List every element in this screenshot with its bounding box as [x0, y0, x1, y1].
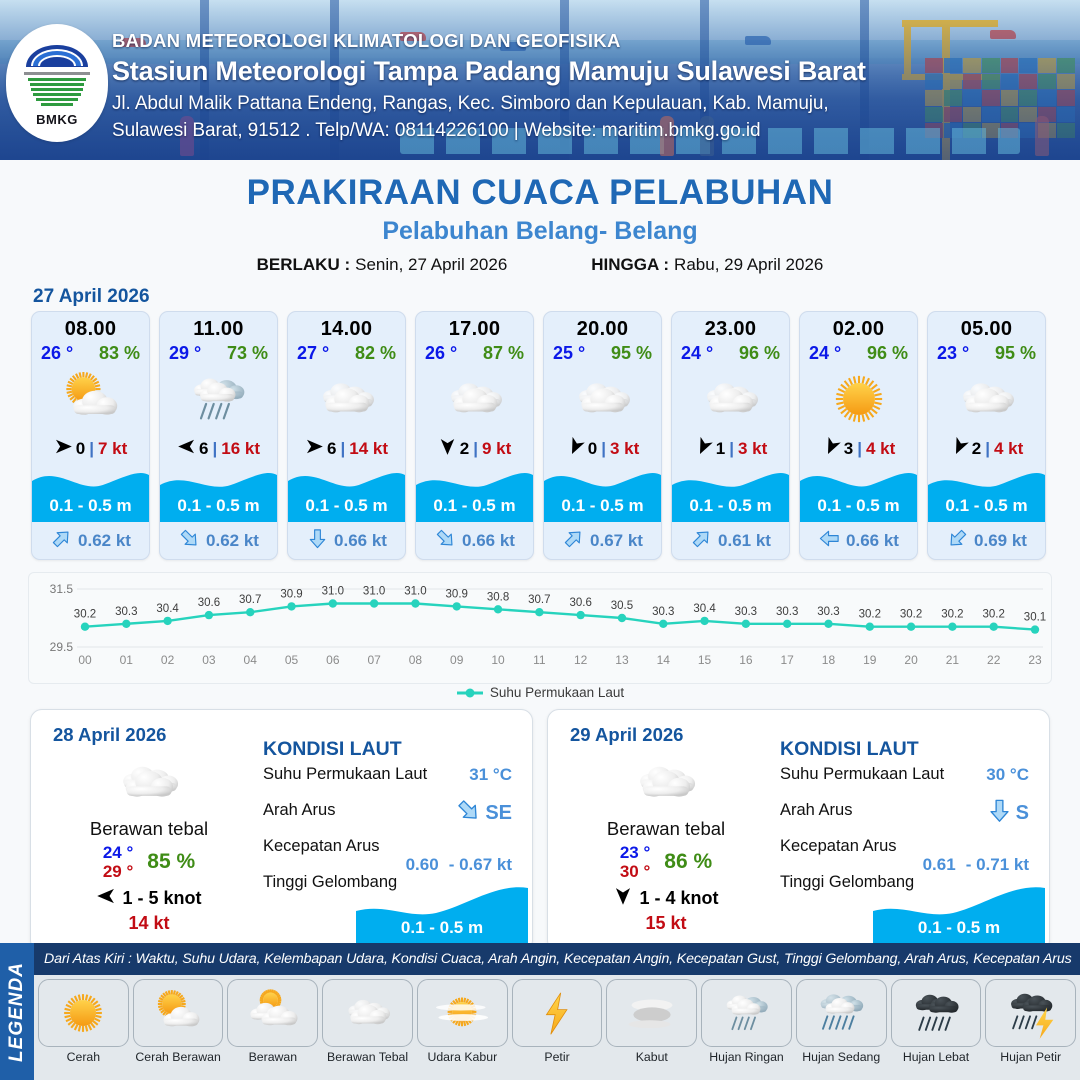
legend-note-bar: Dari Atas Kiri : Waktu, Suhu Udara, Kele…	[34, 943, 1080, 975]
svg-text:30.2: 30.2	[859, 609, 881, 621]
current-speed-row: Kecepatan Arus 0.61 - 0.71 kt	[780, 837, 1035, 873]
svg-text:02: 02	[161, 653, 175, 667]
card-temp-hum: 23 ° 95 %	[928, 341, 1045, 364]
legend-item-label: Petir	[512, 1050, 603, 1064]
cloud-thick-icon	[560, 754, 772, 812]
daily-panel-row: 28 April 2026 Berawan tebal 24	[0, 700, 1080, 952]
card-current-row: 0.69 kt	[928, 527, 1045, 555]
card-wind-direction: 2	[460, 439, 469, 459]
card-temperature: 26 °	[425, 343, 457, 364]
valid-from-value: Senin, 27 April 2026	[355, 255, 507, 274]
legend-item: Cerah	[38, 979, 129, 1064]
card-current-speed: 0.66 kt	[462, 531, 515, 551]
wind-direction-arrow-icon	[438, 437, 457, 461]
legend-item-label: Udara Kabur	[417, 1050, 508, 1064]
card-humidity: 83 %	[99, 343, 140, 364]
svg-text:30.5: 30.5	[611, 600, 633, 612]
card-wave-band: 0.1 - 0.5 m	[800, 463, 917, 522]
legend-note: Dari Atas Kiri : Waktu, Suhu Udara, Kele…	[34, 951, 1072, 967]
card-humidity: 87 %	[483, 343, 524, 364]
legend-item: Hujan Sedang	[796, 979, 887, 1064]
card-wave-band: 0.1 - 0.5 m	[416, 463, 533, 522]
daily-temp-max: 30 °	[620, 862, 650, 881]
svg-text:30.3: 30.3	[115, 606, 137, 618]
cloud-sun-icon	[227, 979, 318, 1047]
svg-text:30.6: 30.6	[198, 597, 220, 609]
svg-text:30.3: 30.3	[776, 606, 798, 618]
forecast-card-row: 08.00 26 ° 83 % 0 | 7 kt	[0, 311, 1080, 560]
card-temp-hum: 25 ° 95 %	[544, 341, 661, 364]
header-address-2: Sulawesi Barat, 91512 . Telp/WA: 0811422…	[112, 118, 866, 143]
svg-text:13: 13	[615, 653, 629, 667]
svg-text:30.3: 30.3	[652, 606, 674, 618]
card-wind-direction: 0	[76, 439, 85, 459]
card-wind-direction: 3	[844, 439, 853, 459]
card-wave-height: 0.1 - 0.5 m	[288, 496, 405, 516]
card-wind-row: 0 | 3 kt	[544, 436, 661, 462]
legend-item: Cerah Berawan	[133, 979, 224, 1064]
card-temperature: 24 °	[809, 343, 841, 364]
card-current-speed: 0.66 kt	[846, 531, 899, 551]
card-current-row: 0.67 kt	[544, 527, 661, 555]
daily-wind-row: 1 - 4 knot	[560, 886, 772, 911]
svg-text:22: 22	[987, 653, 1001, 667]
svg-text:19: 19	[863, 653, 877, 667]
card-wind-direction: 6	[327, 439, 336, 459]
wind-direction-arrow-icon	[177, 437, 196, 461]
daily-sea-block: KONDISI LAUT Suhu Permukaan Laut 31 °C A…	[263, 738, 518, 909]
sst-label: Suhu Permukaan Laut	[780, 765, 944, 783]
valid-until: HINGGA :Rabu, 29 April 2026	[591, 255, 823, 275]
wind-direction-arrow-icon	[613, 886, 633, 911]
sea-conditions-heading: KONDISI LAUT	[780, 738, 1035, 761]
card-wave-height: 0.1 - 0.5 m	[416, 496, 533, 516]
wind-direction-arrow-icon	[96, 886, 116, 911]
daily-humidity: 85 %	[147, 850, 195, 874]
forecast-card[interactable]: 23.00 24 ° 96 % 1	[671, 311, 790, 560]
legend-item-label: Kabut	[606, 1050, 697, 1064]
legend-item-label: Cerah Berawan	[133, 1050, 224, 1064]
svg-text:31.0: 31.0	[363, 586, 385, 598]
sst-chart: 31.529.530.20030.30130.40230.60330.70430…	[28, 572, 1052, 684]
legend-item: Petir	[512, 979, 603, 1064]
svg-text:30.3: 30.3	[735, 606, 757, 618]
current-direction-value: SE	[455, 797, 512, 830]
card-temperature: 27 °	[297, 343, 329, 364]
svg-text:30.9: 30.9	[280, 588, 302, 600]
forecast-card[interactable]: 20.00 25 ° 95 % 0	[543, 311, 662, 560]
daily-wind-range: 1 - 5 knot	[122, 888, 201, 909]
card-current-speed: 0.61 kt	[718, 531, 771, 551]
svg-text:01: 01	[120, 653, 134, 667]
daily-temps: 24 ° 29 ° 85 %	[43, 843, 255, 881]
card-gust-speed: 16 kt	[221, 439, 260, 459]
valid-until-label: HINGGA :	[591, 255, 669, 274]
chart-legend-marker	[456, 687, 484, 699]
haze-icon	[417, 979, 508, 1047]
current-speed-min: 0.61	[923, 855, 956, 875]
valid-from: BERLAKU :Senin, 27 April 2026	[257, 255, 508, 275]
current-direction-arrow-icon	[434, 527, 457, 555]
cloud-icon	[672, 366, 789, 432]
forecast-date-label: 27 April 2026	[33, 286, 1080, 308]
daily-wave-value: 0.1 - 0.5 m	[356, 918, 528, 938]
divider: |	[473, 439, 478, 459]
current-direction-arrow-icon	[986, 797, 1013, 830]
chart-legend: Suhu Permukaan Laut	[0, 685, 1080, 700]
card-wind-direction: 0	[588, 439, 597, 459]
header-station: Stasiun Meteorologi Tampa Padang Mamuju …	[112, 55, 866, 89]
forecast-card[interactable]: 17.00 26 ° 87 % 2	[415, 311, 534, 560]
daily-gust: 15 kt	[560, 913, 772, 934]
card-temp-hum: 27 ° 82 %	[288, 341, 405, 364]
card-current-speed: 0.67 kt	[590, 531, 643, 551]
card-humidity: 95 %	[995, 343, 1036, 364]
legend-item: Hujan Lebat	[891, 979, 982, 1064]
header-org: BADAN METEOROLOGI KLIMATOLOGI DAN GEOFIS…	[112, 28, 866, 54]
wind-direction-arrow-icon	[822, 437, 841, 461]
card-gust-speed: 3 kt	[610, 439, 639, 459]
legend-item: Berawan	[227, 979, 318, 1064]
card-wave-height: 0.1 - 0.5 m	[544, 496, 661, 516]
current-direction-arrow-icon	[178, 527, 201, 555]
card-wave-band: 0.1 - 0.5 m	[32, 463, 149, 522]
daily-left-block: Berawan tebal 23 ° 30 ° 86 % 1 - 4 knot …	[560, 754, 772, 934]
legend-section: LEGENDA Dari Atas Kiri : Waktu, Suhu Uda…	[0, 943, 1080, 1080]
card-wind-row: 6 | 16 kt	[160, 436, 277, 462]
cloud-thick-icon	[322, 979, 413, 1047]
current-speed-value: 0.61 - 0.71 kt	[923, 855, 1029, 875]
card-wind-row: 3 | 4 kt	[800, 436, 917, 462]
svg-text:29.5: 29.5	[50, 640, 74, 654]
card-temp-hum: 24 ° 96 %	[672, 341, 789, 364]
validity-row: BERLAKU :Senin, 27 April 2026 HINGGA :Ra…	[0, 255, 1080, 275]
header-address-1: Jl. Abdul Malik Pattana Endeng, Rangas, …	[112, 91, 866, 116]
wind-direction-arrow-icon	[694, 437, 713, 461]
daily-summary-panel[interactable]: 28 April 2026 Berawan tebal 24	[30, 709, 533, 952]
svg-text:16: 16	[739, 653, 753, 667]
card-wave-band: 0.1 - 0.5 m	[160, 463, 277, 522]
card-wind-direction: 2	[972, 439, 981, 459]
forecast-card[interactable]: 14.00 27 ° 82 % 6	[287, 311, 406, 560]
card-humidity: 96 %	[739, 343, 780, 364]
card-wind-row: 1 | 3 kt	[672, 436, 789, 462]
card-wave-band: 0.1 - 0.5 m	[672, 463, 789, 522]
card-current-row: 0.66 kt	[416, 527, 533, 555]
card-time: 02.00	[800, 312, 917, 341]
card-temp-hum: 26 ° 83 %	[32, 341, 149, 364]
card-humidity: 73 %	[227, 343, 268, 364]
bmkg-logo-text: BMKG	[18, 112, 96, 127]
fog-icon	[606, 979, 697, 1047]
legend-item-label: Berawan	[227, 1050, 318, 1064]
sun-cloud-icon	[133, 979, 224, 1047]
svg-text:30.1: 30.1	[1024, 612, 1046, 624]
daily-sea-block: KONDISI LAUT Suhu Permukaan Laut 30 °C A…	[780, 738, 1035, 909]
valid-until-value: Rabu, 29 April 2026	[674, 255, 823, 274]
svg-text:17: 17	[780, 653, 794, 667]
cloud-icon	[288, 366, 405, 432]
cloud-icon	[544, 366, 661, 432]
daily-temps: 23 ° 30 ° 86 %	[560, 843, 772, 881]
card-gust-speed: 4 kt	[866, 439, 895, 459]
card-temperature: 23 °	[937, 343, 969, 364]
card-time: 23.00	[672, 312, 789, 341]
person-figure	[1035, 116, 1049, 156]
current-speed-max: - 0.71 kt	[966, 855, 1029, 875]
daily-temp-max: 29 °	[103, 862, 133, 881]
svg-text:31.0: 31.0	[404, 586, 426, 598]
daily-condition: Berawan tebal	[43, 818, 255, 840]
divider: |	[601, 439, 606, 459]
divider: |	[89, 439, 94, 459]
forecast-card[interactable]: 08.00 26 ° 83 % 0 | 7 kt	[31, 311, 150, 560]
page-title: PRAKIRAAN CUACA PELABUHAN	[0, 173, 1080, 213]
daily-wave-graphic: 0.1 - 0.5 m	[356, 885, 528, 945]
legend-item: Kabut	[606, 979, 697, 1064]
card-humidity: 82 %	[355, 343, 396, 364]
current-speed-max: - 0.67 kt	[449, 855, 512, 875]
card-wave-band: 0.1 - 0.5 m	[288, 463, 405, 522]
current-direction-arrow-icon	[455, 797, 482, 830]
card-wave-height: 0.1 - 0.5 m	[800, 496, 917, 516]
divider: |	[212, 439, 217, 459]
sst-row: Suhu Permukaan Laut 31 °C	[263, 765, 518, 801]
daily-condition: Berawan tebal	[560, 818, 772, 840]
svg-text:30.3: 30.3	[817, 606, 839, 618]
svg-text:14: 14	[657, 653, 671, 667]
cloud-icon	[928, 366, 1045, 432]
svg-text:30.7: 30.7	[528, 594, 550, 606]
current-speed-value: 0.60 - 0.67 kt	[406, 855, 512, 875]
current-speed-label: Kecepatan Arus	[263, 837, 380, 855]
header-banner: BMKG BADAN METEOROLOGI KLIMATOLOGI DAN G…	[0, 0, 1080, 160]
bmkg-logo: BMKG	[6, 24, 108, 142]
card-temp-hum: 29 ° 73 %	[160, 341, 277, 364]
daily-left-block: Berawan tebal 24 ° 29 ° 85 % 1 - 5 knot …	[43, 754, 255, 934]
card-gust-speed: 7 kt	[98, 439, 127, 459]
wind-direction-arrow-icon	[305, 437, 324, 461]
svg-text:03: 03	[202, 653, 216, 667]
card-wave-height: 0.1 - 0.5 m	[160, 496, 277, 516]
svg-text:06: 06	[326, 653, 340, 667]
card-temp-hum: 26 ° 87 %	[416, 341, 533, 364]
svg-text:31.5: 31.5	[50, 582, 74, 596]
svg-text:05: 05	[285, 653, 299, 667]
sea-conditions-heading: KONDISI LAUT	[263, 738, 518, 761]
current-direction-row: Arah Arus S	[780, 801, 1035, 837]
legend-item: Udara Kabur	[417, 979, 508, 1064]
card-current-speed: 0.62 kt	[78, 531, 131, 551]
daily-temp-col: 24 ° 29 °	[103, 843, 133, 881]
weather-infographic: BMKG BADAN METEOROLOGI KLIMATOLOGI DAN G…	[0, 0, 1080, 1080]
card-current-speed: 0.69 kt	[974, 531, 1027, 551]
svg-text:23: 23	[1028, 653, 1042, 667]
svg-text:30.4: 30.4	[156, 603, 179, 615]
card-gust-speed: 14 kt	[349, 439, 388, 459]
svg-text:30.9: 30.9	[446, 588, 468, 600]
sun-icon	[38, 979, 129, 1047]
daily-humidity: 86 %	[664, 850, 712, 874]
rain-light-icon	[701, 979, 792, 1047]
rain-moderate-icon	[796, 979, 887, 1047]
rain-heavy-icon	[891, 979, 982, 1047]
card-wave-band: 0.1 - 0.5 m	[928, 463, 1045, 522]
card-time: 11.00	[160, 312, 277, 341]
wind-direction-arrow-icon	[54, 437, 73, 461]
card-wind-row: 2 | 9 kt	[416, 436, 533, 462]
forecast-card[interactable]: 11.00 29 ° 73 % 6	[159, 311, 278, 560]
daily-temp-min: 23 °	[620, 843, 650, 862]
legend-item-label: Hujan Sedang	[796, 1050, 887, 1064]
card-current-row: 0.62 kt	[160, 527, 277, 555]
current-direction-arrow-icon	[50, 527, 73, 555]
current-direction-arrow-icon	[690, 527, 713, 555]
card-gust-speed: 3 kt	[738, 439, 767, 459]
daily-wave-graphic: 0.1 - 0.5 m	[873, 885, 1045, 945]
valid-from-label: BERLAKU :	[257, 255, 351, 274]
card-time: 14.00	[288, 312, 405, 341]
rain-thunder-icon	[985, 979, 1076, 1047]
daily-temp-col: 23 ° 30 °	[620, 843, 650, 881]
card-time: 05.00	[928, 312, 1045, 341]
current-direction-label: Arah Arus	[263, 801, 335, 819]
sst-value: 31 °C	[469, 765, 512, 785]
svg-text:30.2: 30.2	[74, 609, 96, 621]
daily-temp-min: 24 °	[103, 843, 133, 862]
card-wave-band: 0.1 - 0.5 m	[544, 463, 661, 522]
svg-text:20: 20	[904, 653, 918, 667]
svg-text:07: 07	[367, 653, 381, 667]
sun-cloud-icon	[32, 366, 149, 432]
svg-text:10: 10	[491, 653, 505, 667]
svg-text:30.2: 30.2	[941, 609, 963, 621]
card-current-row: 0.66 kt	[288, 527, 405, 555]
card-wave-height: 0.1 - 0.5 m	[32, 496, 149, 516]
card-current-row: 0.62 kt	[32, 527, 149, 555]
svg-text:12: 12	[574, 653, 588, 667]
cloud-thick-icon	[43, 754, 255, 812]
legend-item-label: Berawan Tebal	[322, 1050, 413, 1064]
svg-text:08: 08	[409, 653, 423, 667]
divider: |	[985, 439, 990, 459]
divider: |	[729, 439, 734, 459]
bmkg-logo-mark: BMKG	[18, 41, 96, 125]
divider: |	[340, 439, 345, 459]
rain-light-icon	[160, 366, 277, 432]
legend-item-label: Hujan Petir	[985, 1050, 1076, 1064]
card-wind-direction: 6	[199, 439, 208, 459]
daily-date: 28 April 2026	[53, 724, 166, 746]
lightning-icon	[512, 979, 603, 1047]
svg-text:30.2: 30.2	[900, 609, 922, 621]
current-direction-row: Arah Arus SE	[263, 801, 518, 837]
card-current-row: 0.61 kt	[672, 527, 789, 555]
current-direction-value: S	[986, 797, 1029, 830]
daily-wind-range: 1 - 4 knot	[639, 888, 718, 909]
card-time: 08.00	[32, 312, 149, 341]
svg-text:00: 00	[78, 653, 92, 667]
svg-text:31.0: 31.0	[322, 586, 344, 598]
current-direction-arrow-icon	[306, 527, 329, 555]
card-wind-row: 0 | 7 kt	[32, 436, 149, 462]
daily-wave-value: 0.1 - 0.5 m	[873, 918, 1045, 938]
divider: |	[857, 439, 862, 459]
legend-item-row: Cerah Cerah Berawan	[38, 979, 1076, 1064]
card-temperature: 24 °	[681, 343, 713, 364]
legend-item: Berawan Tebal	[322, 979, 413, 1064]
card-temperature: 29 °	[169, 343, 201, 364]
svg-text:09: 09	[450, 653, 464, 667]
legend-sidebar-label: LEGENDA	[6, 962, 28, 1062]
svg-text:21: 21	[946, 653, 960, 667]
card-wave-height: 0.1 - 0.5 m	[928, 496, 1045, 516]
card-gust-speed: 4 kt	[994, 439, 1023, 459]
current-direction-arrow-icon	[562, 527, 585, 555]
card-time: 17.00	[416, 312, 533, 341]
forecast-card[interactable]: 02.00 24 ° 96 % 3 | 4 kt 0.1 - 0.5 m	[799, 311, 918, 560]
svg-text:30.7: 30.7	[239, 594, 261, 606]
current-speed-min: 0.60	[406, 855, 439, 875]
sst-chart-svg: 31.529.530.20030.30130.40230.60330.70430…	[29, 573, 1053, 685]
svg-text:18: 18	[822, 653, 836, 667]
svg-text:15: 15	[698, 653, 712, 667]
card-wind-row: 6 | 14 kt	[288, 436, 405, 462]
sst-row: Suhu Permukaan Laut 30 °C	[780, 765, 1035, 801]
card-humidity: 95 %	[611, 343, 652, 364]
header-text-block: BADAN METEOROLOGI KLIMATOLOGI DAN GEOFIS…	[112, 28, 866, 143]
card-temperature: 26 °	[41, 343, 73, 364]
card-wave-height: 0.1 - 0.5 m	[672, 496, 789, 516]
page-subtitle: Pelabuhan Belang- Belang	[0, 217, 1080, 246]
card-humidity: 96 %	[867, 343, 908, 364]
legend-item: Hujan Ringan	[701, 979, 792, 1064]
forecast-card[interactable]: 05.00 23 ° 95 % 2	[927, 311, 1046, 560]
svg-text:30.8: 30.8	[487, 591, 509, 603]
sst-value: 30 °C	[986, 765, 1029, 785]
card-temperature: 25 °	[553, 343, 585, 364]
sun-icon	[800, 366, 917, 432]
current-direction-arrow-icon	[946, 527, 969, 555]
svg-text:30.2: 30.2	[983, 609, 1005, 621]
card-time: 20.00	[544, 312, 661, 341]
daily-summary-panel[interactable]: 29 April 2026 Berawan tebal 23	[547, 709, 1050, 952]
legend-item: Hujan Petir	[985, 979, 1076, 1064]
daily-date: 29 April 2026	[570, 724, 683, 746]
svg-text:04: 04	[244, 653, 258, 667]
legend-item-label: Hujan Ringan	[701, 1050, 792, 1064]
title-block: PRAKIRAAN CUACA PELABUHAN Pelabuhan Bela…	[0, 160, 1080, 275]
card-temp-hum: 24 ° 96 %	[800, 341, 917, 364]
current-speed-label: Kecepatan Arus	[780, 837, 897, 855]
legend-item-label: Cerah	[38, 1050, 129, 1064]
card-current-speed: 0.66 kt	[334, 531, 387, 551]
svg-text:30.4: 30.4	[693, 603, 716, 615]
current-direction-arrow-icon	[818, 527, 841, 555]
daily-gust: 14 kt	[43, 913, 255, 934]
legend-sidebar: LEGENDA	[0, 943, 34, 1080]
card-gust-speed: 9 kt	[482, 439, 511, 459]
legend-item-label: Hujan Lebat	[891, 1050, 982, 1064]
wind-direction-arrow-icon	[950, 437, 969, 461]
daily-wind-row: 1 - 5 knot	[43, 886, 255, 911]
card-wind-row: 2 | 4 kt	[928, 436, 1045, 462]
svg-text:30.6: 30.6	[569, 597, 591, 609]
chart-legend-label: Suhu Permukaan Laut	[490, 685, 624, 700]
wind-direction-arrow-icon	[566, 437, 585, 461]
cloud-icon	[416, 366, 533, 432]
svg-text:11: 11	[533, 653, 546, 667]
